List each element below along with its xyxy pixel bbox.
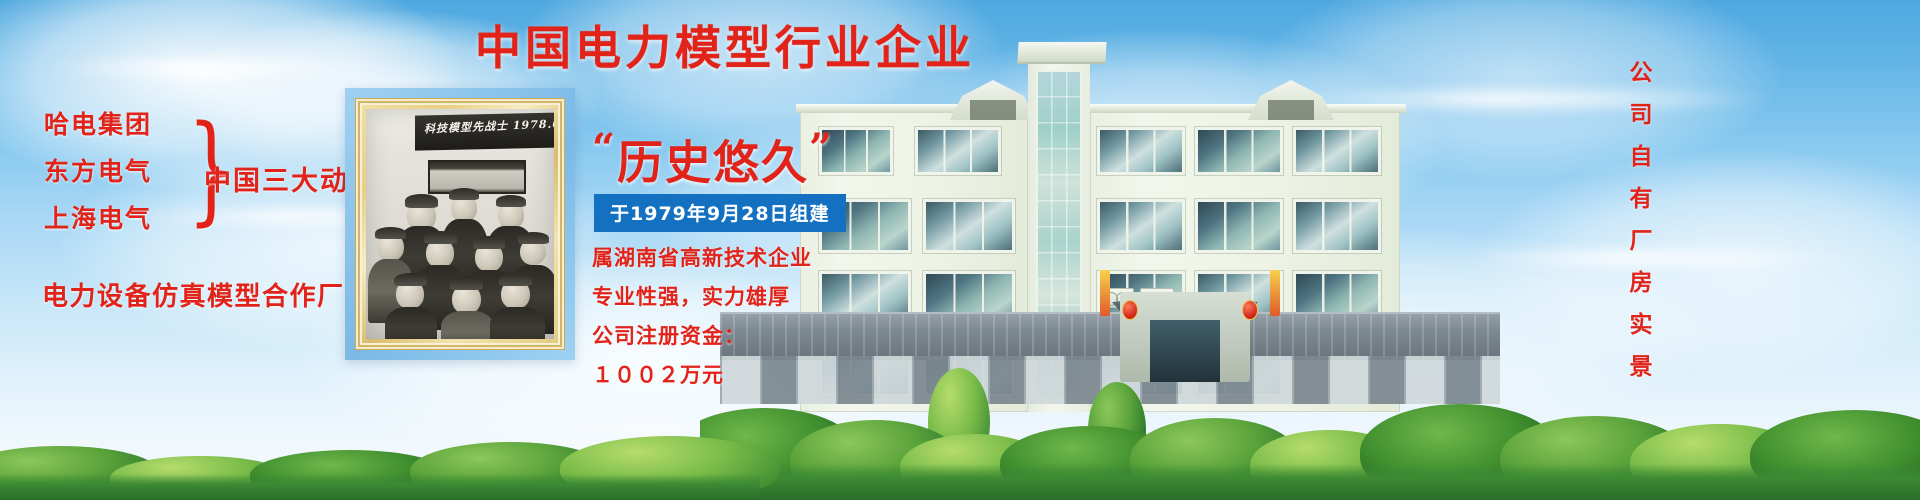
- photo-person-head: [396, 279, 424, 309]
- roof-dormer: [950, 80, 1036, 120]
- photo-gold-moulding: 科技模型先战士 1978.6: [355, 98, 565, 350]
- grass-band: [0, 474, 760, 500]
- photo-banner-strip: 科技模型先战士 1978.6: [415, 112, 554, 150]
- photo-person-head: [426, 238, 454, 268]
- brand-item-harbin: 哈电集团: [44, 112, 152, 137]
- history-headline-text: 历史悠久: [617, 135, 809, 189]
- vertical-char: 实: [1630, 314, 1653, 337]
- vertical-caption: 公 司 自 有 厂 房 实 景: [1618, 62, 1664, 379]
- historical-photo-frame: 科技模型先战士 1978.6: [345, 88, 575, 360]
- quote-open-icon: “: [592, 125, 617, 172]
- photo-person-body: [490, 307, 545, 339]
- photo-person-head: [377, 233, 403, 261]
- vertical-char: 自: [1630, 146, 1653, 169]
- fact-high-tech-enterprise: 属湖南省高新技术企业: [592, 248, 922, 269]
- partner-tagline: 电力设备仿真模型合作厂家: [42, 276, 372, 313]
- building-window: [1198, 202, 1280, 250]
- fact-expertise: 专业性强，实力雄厚: [592, 287, 922, 308]
- building-window: [918, 130, 998, 172]
- building-window: [1198, 130, 1280, 172]
- brand-item-shanghai: 上海电气: [44, 206, 152, 231]
- grass-band: [700, 464, 1920, 500]
- building-window: [1100, 130, 1182, 172]
- vertical-char: 厂: [1630, 230, 1653, 253]
- building-window: [1296, 202, 1378, 250]
- vertical-char: 公: [1630, 62, 1653, 85]
- company-facts-list: 属湖南省高新技术企业 专业性强，实力雄厚 公司注册资金： １００２万元: [592, 248, 922, 386]
- photo-person-head: [452, 284, 480, 314]
- vertical-char: 房: [1630, 272, 1653, 295]
- founded-date-badge: 于1979年9月28日组建: [594, 194, 846, 232]
- building-window: [1100, 202, 1182, 250]
- middle-text-block: “历史悠久” 于1979年9月28日组建 属湖南省高新技术企业 专业性强，实力雄…: [592, 128, 922, 404]
- vertical-char: 司: [1630, 104, 1653, 127]
- photo-person-head: [520, 238, 546, 266]
- photo-person-head: [475, 242, 503, 272]
- photo-caption: 科技模型先战士 1978.6: [424, 115, 554, 136]
- photo-person-head: [451, 194, 477, 222]
- lantern-icon: [1122, 300, 1138, 320]
- brand-list: 哈电集团 东方电气 上海电气: [44, 112, 152, 231]
- photo-person-head: [501, 279, 529, 309]
- promo-banner: 中国电力模型行业企业 哈电集团 东方电气 上海电气 } 中国三大动力 电力设备仿…: [0, 0, 1920, 500]
- fact-capital-label: 公司注册资金：: [592, 326, 922, 347]
- photo-person-body: [385, 307, 438, 339]
- roof-ledge: [1086, 104, 1406, 113]
- photo-person-body: [441, 311, 494, 339]
- building-window: [926, 202, 1012, 250]
- vertical-char: 景: [1630, 356, 1653, 379]
- quote-close-icon: ”: [809, 125, 834, 172]
- decorative-flag: [1100, 270, 1110, 316]
- vertical-char: 有: [1630, 188, 1653, 211]
- roof-dormer: [1248, 80, 1334, 120]
- building-window: [1296, 130, 1378, 172]
- lantern-icon: [1242, 300, 1258, 320]
- banner-title-text: 中国电力模型行业企业: [475, 21, 975, 75]
- brand-item-dongfang: 东方电气: [44, 159, 152, 184]
- decorative-flag: [1270, 270, 1280, 316]
- photo-person-head: [498, 201, 524, 229]
- history-headline: “历史悠久”: [592, 128, 922, 187]
- photo-background-cabinet: [428, 160, 526, 195]
- fact-capital-value: １００２万元: [592, 365, 922, 386]
- historical-group-photo: 科技模型先战士 1978.6: [366, 109, 554, 339]
